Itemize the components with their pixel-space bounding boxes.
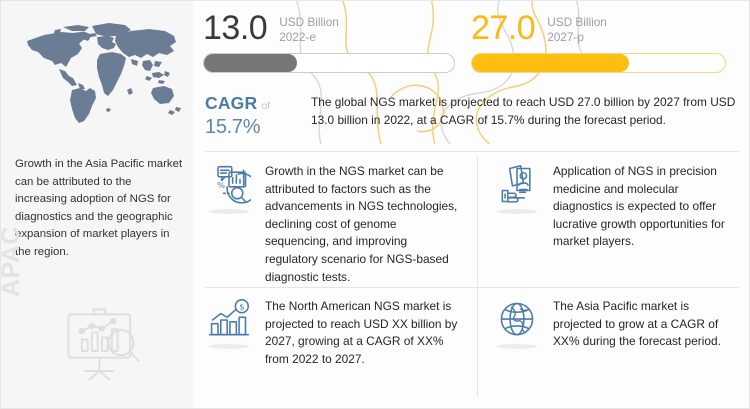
progress-bar-2022 — [203, 53, 455, 73]
stat-unit-2022: USD Billion 2022-e — [279, 9, 339, 45]
card-text: Growth in the NGS market can be attribut… — [265, 163, 459, 286]
stats-block: 13.0 USD Billion 2022-e 27.0 USD Billion — [193, 1, 750, 144]
cagr-label: CAGR — [205, 93, 257, 113]
divider-horizontal-top — [205, 151, 739, 152]
icon-shadow — [497, 209, 537, 214]
stat-value-2022: 13.0 — [203, 9, 267, 47]
stat-card-2027: 27.0 USD Billion 2027-p — [471, 9, 743, 73]
stat-card-2022: 13.0 USD Billion 2022-e — [203, 9, 471, 73]
svg-text:%: % — [217, 180, 225, 190]
card-precision-medicine: Application of NGS in precision medicine… — [495, 163, 739, 251]
icon-shadow — [209, 344, 249, 349]
hand-holding-documents-icon — [495, 163, 543, 251]
progress-bar-fill-2022 — [204, 54, 297, 72]
stat-value-2027: 27.0 — [471, 9, 535, 47]
card-text: The Asia Pacific market is projected to … — [553, 298, 739, 351]
apac-watermark: APAC — [1, 226, 26, 297]
left-panel: Growth in the Asia Pacific market can be… — [1, 1, 193, 409]
divider-vertical — [477, 157, 478, 397]
divider-horizontal-mid — [205, 287, 739, 288]
right-area: 13.0 USD Billion 2022-e 27.0 USD Billion — [193, 1, 750, 409]
svg-text:$: $ — [239, 301, 244, 311]
left-panel-paragraph: Growth in the Asia Pacific market can be… — [15, 156, 183, 261]
world-map-icon — [9, 15, 185, 133]
bar-chart-dollar-growth-icon: $ — [207, 298, 255, 368]
stat-unit-line2: 2022-e — [279, 30, 339, 45]
cagr-value: 15.7% — [205, 116, 305, 139]
card-market-growth-drivers: % Growth in the NGS market can be attrib… — [207, 163, 459, 286]
card-asia-pacific-market: The Asia Pacific market is projected to … — [495, 298, 739, 351]
card-text: The North American NGS market is project… — [265, 298, 459, 368]
stat-unit-line1: USD Billion — [279, 15, 339, 30]
globe-icon — [495, 298, 543, 351]
cagr-of-label: of — [261, 100, 270, 112]
headline-text: The global NGS market is projected to re… — [311, 93, 739, 129]
cagr-block: CAGRof 15.7% — [205, 93, 305, 139]
icon-shadow — [497, 344, 537, 349]
progress-bar-fill-2027 — [472, 54, 629, 72]
stat-unit-line2: 2027-p — [547, 30, 607, 45]
stat-unit-2027: USD Billion 2027-p — [547, 9, 607, 45]
card-north-america-market: $ The North American NGS market is proje… — [207, 298, 459, 368]
chart-presentation-magnifier-icon — [55, 301, 147, 381]
icon-shadow — [209, 209, 249, 214]
infographic-canvas: Growth in the Asia Pacific market can be… — [0, 0, 750, 409]
card-text: Application of NGS in precision medicine… — [553, 163, 739, 251]
progress-bar-2027 — [471, 53, 726, 73]
stat-unit-line1: USD Billion — [547, 15, 607, 30]
market-analysis-percent-icon: % — [207, 163, 255, 286]
